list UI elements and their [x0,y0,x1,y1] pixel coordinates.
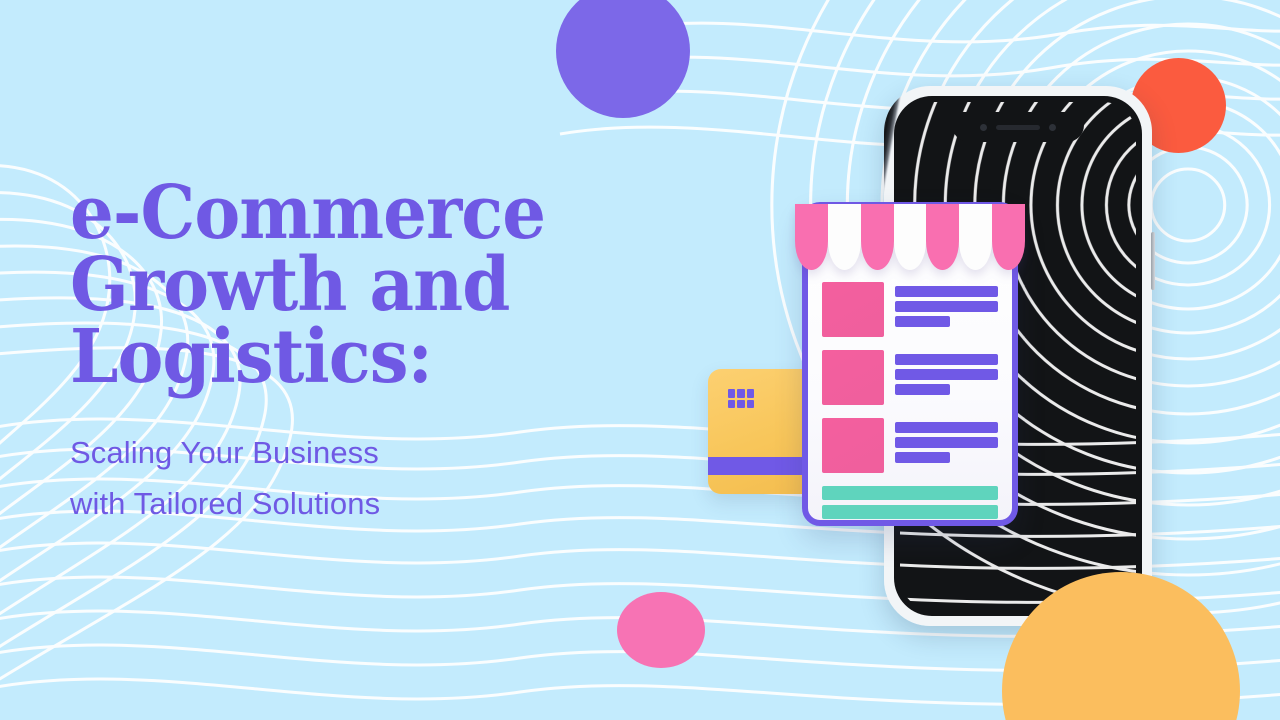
product-thumbnail [822,418,884,473]
awning-scallop [959,204,992,270]
product-line [895,384,950,395]
product-line [895,301,998,312]
product-line [895,437,998,448]
product-list-item[interactable] [822,418,998,473]
product-list-item[interactable] [822,282,998,337]
page-subtitle: Scaling Your Business with Tailored Solu… [70,427,670,529]
footer-bar[interactable] [822,505,998,519]
poster-canvas: e-Commerce Growth and Logistics: Scaling… [0,0,1280,720]
awning-scallop [861,204,894,270]
chip-cell [728,389,735,398]
proximity-sensor-icon [1049,124,1056,131]
product-line [895,316,950,327]
product-line [895,452,950,463]
product-text-lines [895,350,998,399]
product-thumbnail [822,350,884,405]
product-line [895,354,998,365]
awning-scallop [926,204,959,270]
product-line [895,422,998,433]
storefront-card [797,196,1023,526]
earpiece-speaker-icon [996,125,1040,130]
chip-cell [747,400,754,409]
product-list-item[interactable] [822,350,998,405]
storefront-product-list [808,276,1012,512]
product-text-lines [895,282,998,331]
chip-cell [747,389,754,398]
front-camera-icon [980,124,987,131]
awning-scallop [894,204,927,270]
decorative-circle-purple [556,0,690,118]
footer-bar[interactable] [822,486,998,500]
decorative-ellipse-pink [617,592,705,668]
storefront-awning [795,204,1025,270]
awning-scallop [992,204,1025,270]
product-thumbnail [822,282,884,337]
phone-side-button[interactable] [1151,232,1155,290]
awning-scallop [795,204,828,270]
headline-block: e-Commerce Growth and Logistics: Scaling… [70,178,670,530]
storefront-footer-bars [822,486,998,519]
chip-cell [737,400,744,409]
page-title: e-Commerce Growth and Logistics: [70,178,628,393]
product-text-lines [895,418,998,467]
phone-notch [952,112,1084,142]
product-line [895,369,998,380]
awning-scallop [828,204,861,270]
credit-card-chip-icon [728,389,754,408]
product-line [895,286,998,297]
chip-cell [737,389,744,398]
chip-cell [728,400,735,409]
